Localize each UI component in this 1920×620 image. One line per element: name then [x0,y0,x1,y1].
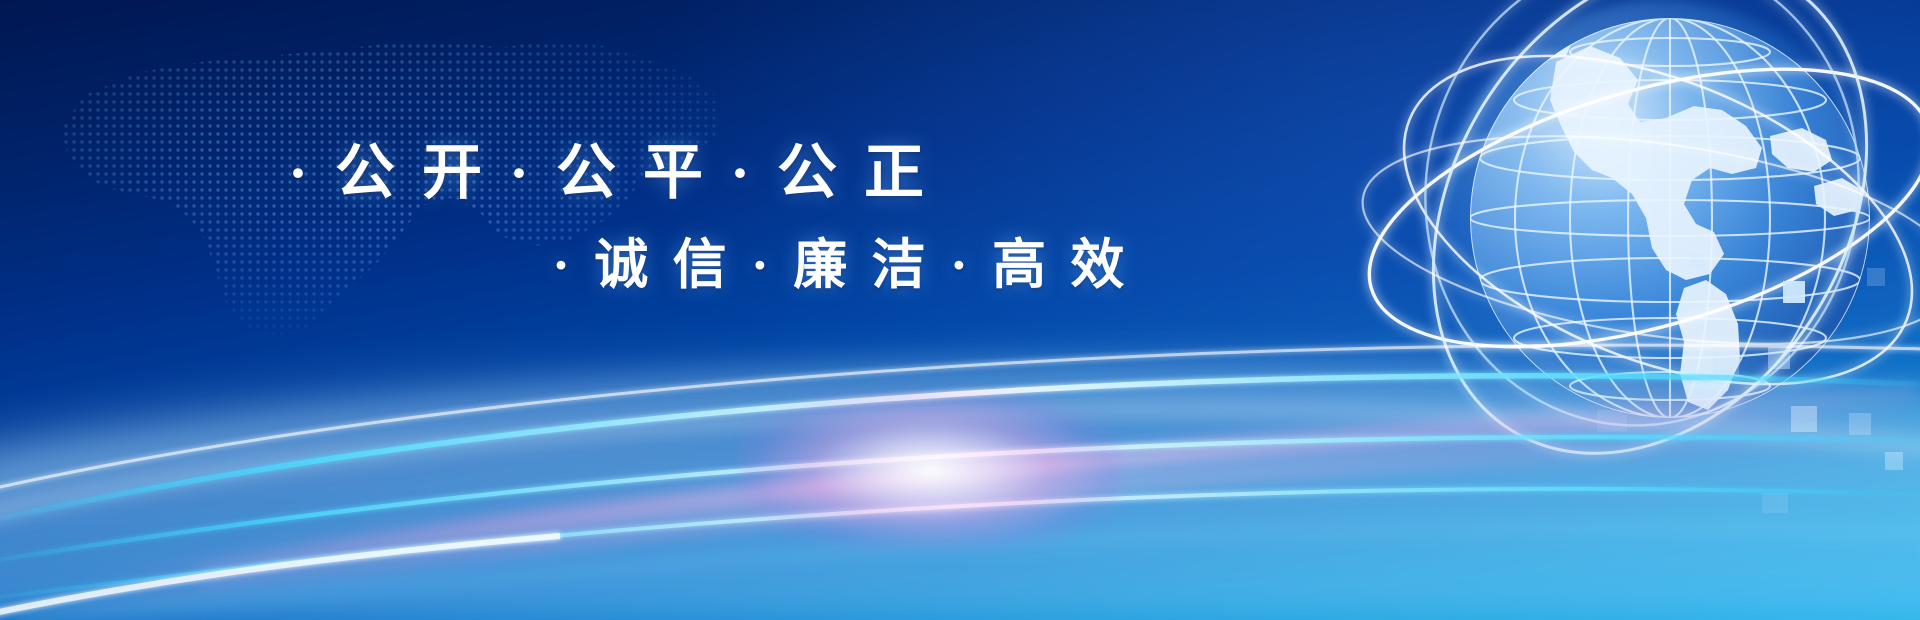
banner-root: · 公 开 · 公 平 · 公 正 · 诚 信 · 廉 洁 · 高 效 [0,0,1920,620]
slogan-line-2: · 诚 信 · 廉 洁 · 高 效 [552,238,1130,292]
light-glow-core [740,390,1120,550]
slogan-line-1: · 公 开 · 公 平 · 公 正 [288,143,930,203]
mosaic-square [1689,254,1705,270]
mosaic-square [1867,268,1885,286]
